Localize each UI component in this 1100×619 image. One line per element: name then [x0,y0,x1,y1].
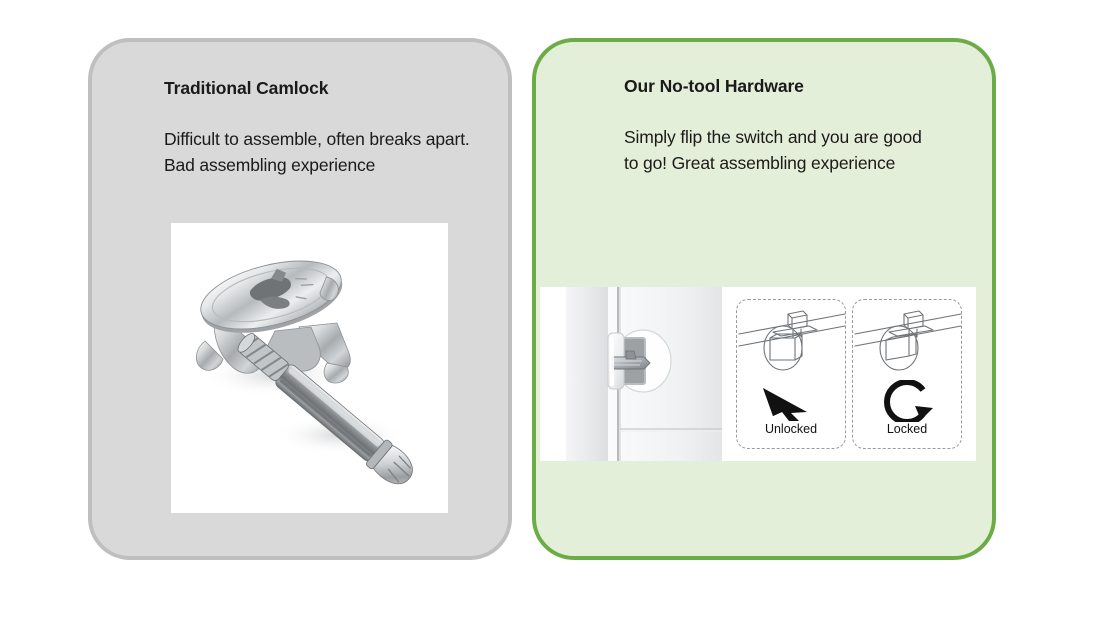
panel-traditional-camlock: Traditional Camlock Difficult to assembl… [88,38,512,560]
connector-linedrawing-unlocked-icon [737,304,847,378]
rotate-clockwise-icon [853,380,963,422]
arrow-up-left-icon [737,380,847,422]
panel-heading-traditional: Traditional Camlock [164,78,328,99]
diagram-cell-locked: Locked [852,299,962,449]
lock-instruction-diagram: Unlocked [722,287,976,461]
diagram-caption-locked: Locked [853,422,961,436]
no-tool-hardware-photo [540,287,725,461]
connector-linedrawing-locked-icon [853,304,963,378]
diagram-caption-unlocked: Unlocked [737,422,845,436]
panel-heading-no-tool: Our No-tool Hardware [624,76,804,97]
camlock-product-photo [171,223,448,513]
diagram-cell-unlocked: Unlocked [736,299,846,449]
panel-body-no-tool: Simply flip the switch and you are good … [624,124,934,176]
cabinet-panel-illustration [540,287,725,461]
panel-body-traditional: Difficult to assemble, often breaks apar… [164,126,474,178]
panel-no-tool-hardware: Our No-tool Hardware Simply flip the swi… [532,38,996,560]
camlock-illustration [171,223,448,513]
